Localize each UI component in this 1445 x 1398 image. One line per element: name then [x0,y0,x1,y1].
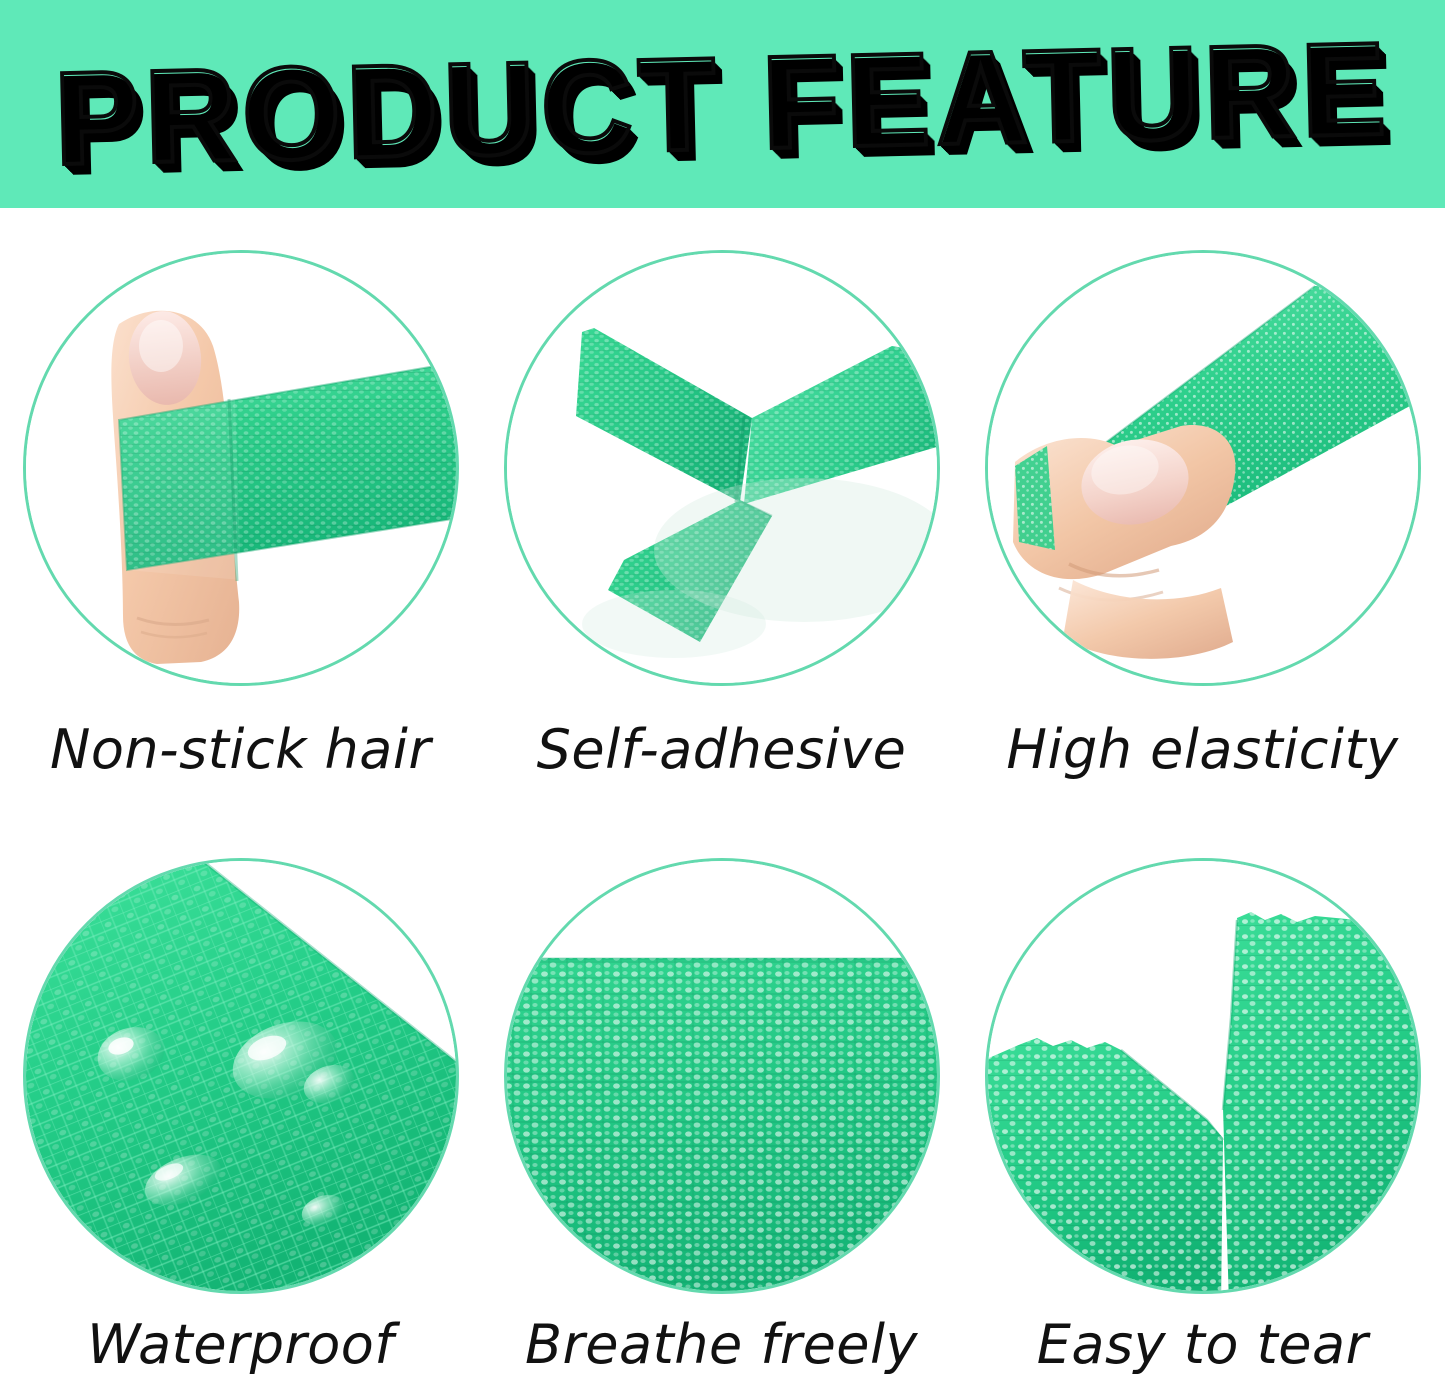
porous-bandage-texture-illustration [504,858,940,1294]
feature-card-waterproof: Waterproof [0,858,481,1398]
feature-image-circle [504,250,940,686]
feature-image-circle [504,858,940,1294]
finger-wrapped-bandage-illustration [23,250,459,686]
thumb-stretching-bandage-illustration [985,250,1421,686]
bandage-torn-v-shape-illustration [985,858,1421,1294]
feature-grid: Non-stick hair [0,208,1445,1398]
bandage-folded-zigzag-illustration [504,250,940,686]
feature-image-circle [985,858,1421,1294]
feature-row-2: Waterproof [0,858,1445,1398]
feature-row-1: Non-stick hair [0,250,1445,840]
feature-image-circle [985,250,1421,686]
water-droplets-on-bandage-illustration [23,858,459,1294]
feature-label: Self-adhesive [481,718,962,781]
feature-label: Non-stick hair [0,718,481,781]
feature-label: Easy to tear [962,1313,1443,1376]
page-title: PRODUCT FEATURE [49,23,1396,185]
feature-card-breathe-freely: Breathe freely [481,858,962,1398]
feature-card-high-elasticity: High elasticity [962,250,1443,840]
feature-card-easy-to-tear: Easy to tear [962,858,1443,1398]
feature-image-circle [23,250,459,686]
feature-label: Waterproof [0,1313,481,1376]
feature-card-self-adhesive: Self-adhesive [481,250,962,840]
feature-card-non-stick-hair: Non-stick hair [0,250,481,840]
feature-label: High elasticity [962,718,1443,781]
feature-image-circle [23,858,459,1294]
header-banner: PRODUCT FEATURE [0,0,1445,208]
feature-label: Breathe freely [481,1313,962,1376]
